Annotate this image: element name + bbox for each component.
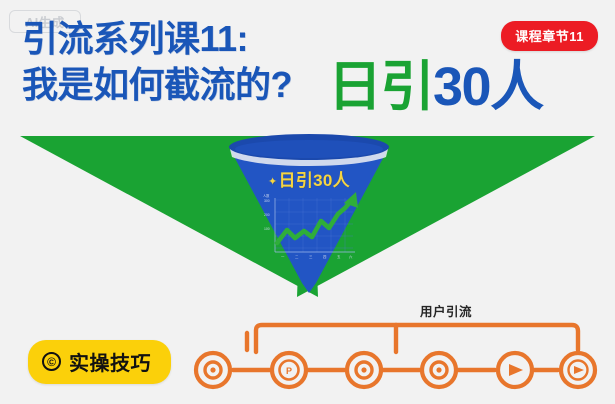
headline: 引流系列课11: 我是如何截流的? — [22, 18, 292, 107]
funnel-label-text: 日引30人 — [279, 171, 350, 190]
svg-text:四: 四 — [323, 255, 327, 259]
svg-text:五: 五 — [337, 255, 341, 259]
headline-line-2: 我是如何截流的? — [22, 64, 292, 106]
svg-text:三: 三 — [309, 255, 313, 259]
flow-connector-bracket — [256, 325, 578, 352]
headline-highlight-green: 日引 — [328, 57, 433, 117]
chart-ytick: 300 — [264, 199, 270, 203]
chart-ytick: 100 — [264, 227, 270, 231]
flow-node-3 — [347, 353, 381, 387]
flow-node-5 — [498, 353, 532, 387]
headline-highlight: 日引30人 — [328, 60, 543, 114]
headline-highlight-blue: 30人 — [433, 57, 543, 117]
svg-text:一: 一 — [281, 255, 285, 259]
copyright-icon: © — [42, 352, 61, 371]
flow-diagram: P — [190, 300, 615, 392]
chart-series-line — [277, 200, 352, 243]
headline-line-1: 引流系列课11: — [22, 18, 292, 60]
flow-node-2: P — [272, 353, 306, 387]
flow-node-4 — [422, 353, 456, 387]
sparkle-icon: ✦ — [268, 176, 278, 188]
flow-node-6 — [561, 353, 595, 387]
skill-badge-label: 实操技巧 — [69, 347, 151, 376]
chapter-badge[interactable]: 课程章节11 — [501, 21, 598, 51]
chart-xticks: 一 二 三 四 五 六 — [281, 254, 353, 259]
chart-ytick: 200 — [264, 213, 270, 217]
svg-text:六: 六 — [349, 254, 353, 259]
flow-label: 用户引流 — [420, 301, 472, 320]
chart-ylabel: 人数 — [263, 193, 270, 198]
flow-node-1 — [196, 353, 230, 387]
skill-badge[interactable]: © 实操技巧 — [28, 340, 171, 384]
mini-line-chart: 人数 300 200 100 一 二 三 四 五 六 — [257, 190, 362, 275]
svg-text:P: P — [286, 366, 292, 376]
poster-canvas: AI生成 引流系列课11: 我是如何截流的? 日引30人 课程章节11 — [0, 0, 615, 404]
funnel-label: ✦日引30人 — [226, 166, 392, 191]
svg-text:二: 二 — [295, 255, 299, 259]
